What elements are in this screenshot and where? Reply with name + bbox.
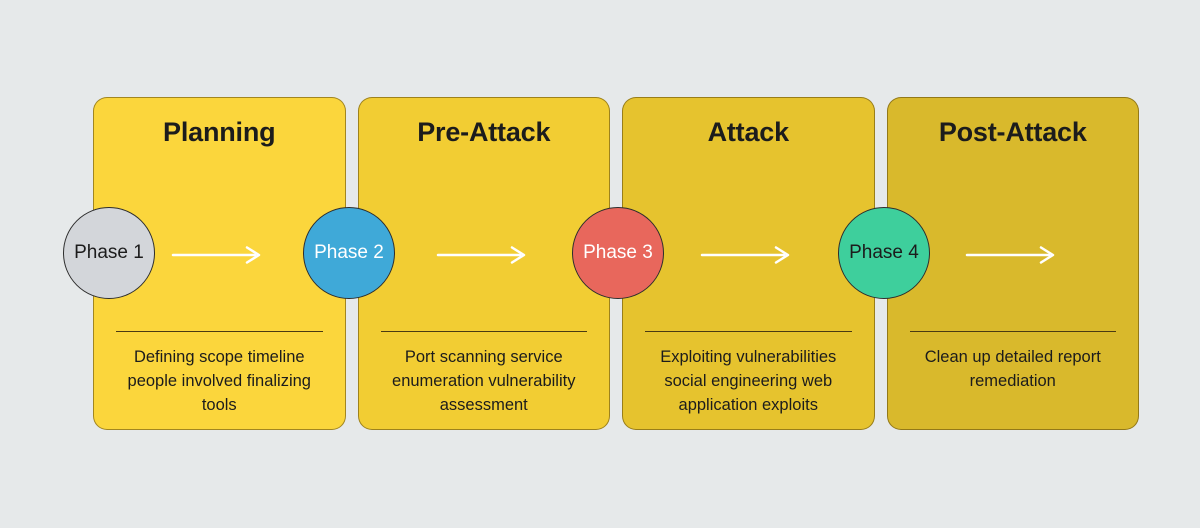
phase-title: Attack bbox=[708, 118, 789, 148]
phase-divider bbox=[381, 331, 588, 332]
phase-title: Post-Attack bbox=[939, 118, 1087, 148]
phase-badge-2[interactable]: Phase 2 bbox=[303, 207, 395, 299]
phase-description: Clean up detailed report remediation bbox=[910, 346, 1117, 394]
phase-description: Exploiting vulnerabilities social engine… bbox=[645, 346, 852, 418]
phase-divider bbox=[116, 331, 323, 332]
phase-title: Pre-Attack bbox=[417, 118, 550, 148]
phase-description: Port scanning service enumeration vulner… bbox=[381, 346, 588, 418]
phase-badge-label: Phase 2 bbox=[314, 242, 384, 264]
phase-badge-3[interactable]: Phase 3 bbox=[572, 207, 664, 299]
phase-title: Planning bbox=[163, 118, 275, 148]
phase-footer: Exploiting vulnerabilities social engine… bbox=[645, 331, 852, 418]
phase-badge-label: Phase 1 bbox=[74, 242, 144, 264]
phase-badge-label: Phase 3 bbox=[583, 242, 653, 264]
phase-card-pre-attack[interactable]: Pre-Attack Port scanning service enumera… bbox=[358, 97, 611, 430]
phase-divider bbox=[910, 331, 1117, 332]
phase-badge-label: Phase 4 bbox=[849, 242, 919, 264]
phase-description: Defining scope timeline people involved … bbox=[116, 346, 323, 418]
phase-badge-1[interactable]: Phase 1 bbox=[63, 207, 155, 299]
phase-footer: Port scanning service enumeration vulner… bbox=[381, 331, 588, 418]
phase-divider bbox=[645, 331, 852, 332]
penetration-testing-phases-diagram: Planning Defining scope timeline people … bbox=[0, 0, 1200, 528]
phase-footer: Clean up detailed report remediation bbox=[910, 331, 1117, 394]
phase-footer: Defining scope timeline people involved … bbox=[116, 331, 323, 418]
phase-badge-4[interactable]: Phase 4 bbox=[838, 207, 930, 299]
